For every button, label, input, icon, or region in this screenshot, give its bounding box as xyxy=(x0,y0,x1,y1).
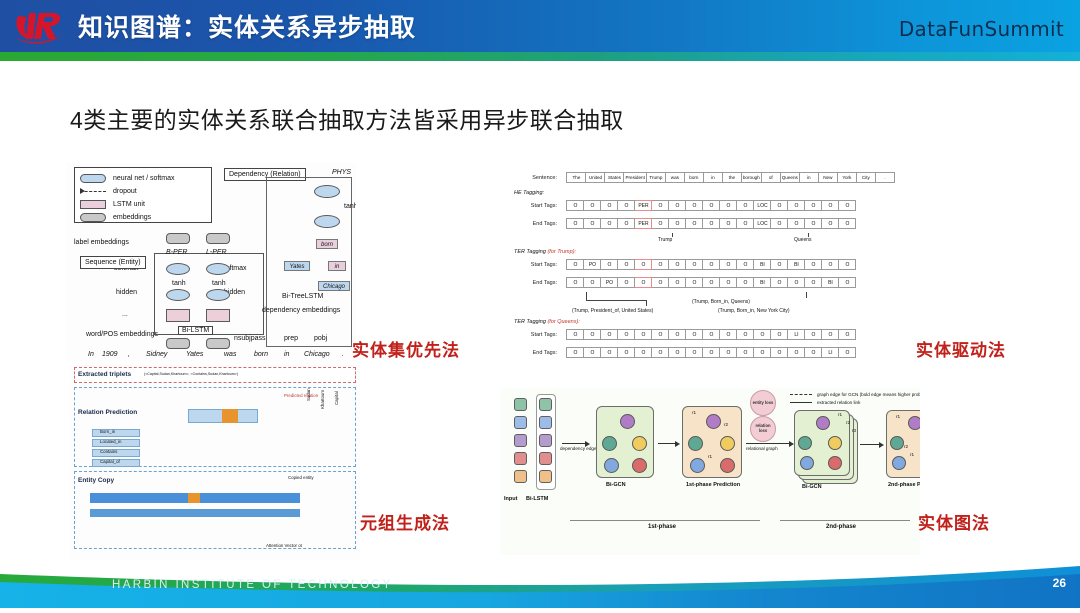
tag-cell: O xyxy=(635,278,652,288)
copied-entity-label: Copied entity xyxy=(288,475,314,480)
tag-cell-per: PER xyxy=(635,201,652,211)
tag-cell: O xyxy=(669,219,686,229)
triplet-text: (<Capital,Sudan,Khartoum>, <Contains,Sud… xyxy=(144,372,238,376)
tag-cell: O xyxy=(686,260,703,270)
solid-line-icon xyxy=(790,402,812,403)
entity-word-label: Khartoum xyxy=(320,390,325,409)
graph-node xyxy=(620,414,635,429)
tag-cell: O xyxy=(720,278,737,288)
tag-cell: BI xyxy=(788,260,805,270)
tag-cell-loc: LOC xyxy=(754,201,771,211)
bitreelstm-label: Bi-TreeLSTM xyxy=(282,293,323,300)
row-label-end-tags: End Tags: xyxy=(506,221,562,227)
legend-item-dropout: dropout xyxy=(80,185,206,197)
tag-cell: O xyxy=(737,348,754,358)
tag-cell: O xyxy=(686,201,703,211)
neural-net-swatch-icon xyxy=(80,174,106,183)
row-label-ellipsis: ... xyxy=(122,311,128,318)
accent-bar xyxy=(0,52,1080,61)
method-label-entity-driven: 实体驱动法 xyxy=(916,336,1006,361)
tag-cell: O xyxy=(618,201,635,211)
row-label-start-tags: Start Tags: xyxy=(506,332,562,338)
tagging-tables: Sentence: The United States President Tr… xyxy=(506,167,916,361)
brand-logo: DataFunSummit xyxy=(899,17,1064,41)
tag-cell: O xyxy=(703,201,720,211)
tag-cell: O xyxy=(737,219,754,229)
tag-cell: O xyxy=(720,330,737,340)
he-start-row: Start Tags: O O O O PER O O O O O O LOC … xyxy=(506,197,916,215)
tag-cell: O xyxy=(601,260,618,270)
hidden-node xyxy=(166,289,190,301)
tag-cell: O xyxy=(805,219,822,229)
word-embedding-node xyxy=(206,338,230,349)
sentence-cell: the xyxy=(722,173,741,183)
tanh-label: tanh xyxy=(344,203,356,210)
tag-cell: O xyxy=(788,278,805,288)
bigcn-label-2: Bi-GCN xyxy=(802,484,822,490)
bilstm-node xyxy=(539,452,552,465)
tag-cell: O xyxy=(601,348,618,358)
sentence-token: In xyxy=(88,351,94,358)
lstm-unit-node xyxy=(166,309,190,322)
tag-cell: O xyxy=(839,330,856,340)
ter-annotation-president-of: (Trump, President_of, United States) xyxy=(572,308,653,314)
relation-option-label: Located_in xyxy=(100,439,121,444)
bilstm-node xyxy=(539,398,552,411)
ter-title: TER Tagging xyxy=(514,249,546,255)
lstm-unit-node xyxy=(206,309,230,322)
he-end-table: O O O O PER O O O O O O LOC O O O O O xyxy=(566,218,856,229)
tag-cell: O xyxy=(567,219,584,229)
tag-cell: O xyxy=(822,219,839,229)
tag-cell: LI xyxy=(822,348,839,358)
graph-node xyxy=(688,436,703,451)
tree-node-born: born xyxy=(316,239,338,249)
tag-cell: O xyxy=(686,219,703,229)
tag-cell: O xyxy=(839,348,856,358)
figure-entity-set-first: neural net / softmax dropout LSTM unit e… xyxy=(66,163,356,361)
ter-queens-end-row: End Tags: O O O O O O O O O O O O O O O … xyxy=(506,344,916,361)
tag-cell: O xyxy=(669,330,686,340)
input-token-node xyxy=(514,434,527,447)
entity-word-label: Sudan xyxy=(306,388,311,401)
legend-item-neural-net: neural net / softmax xyxy=(80,172,206,184)
tag-cell: O xyxy=(584,278,601,288)
embeddings-swatch-icon xyxy=(80,213,106,222)
tag-cell: BI xyxy=(754,260,771,270)
input-token-node xyxy=(514,398,527,411)
graph-node xyxy=(798,436,812,450)
tag-cell: O xyxy=(567,260,584,270)
sentence-cell: born xyxy=(684,173,703,183)
entity-copy-selected xyxy=(188,493,200,503)
softmax-node xyxy=(206,263,230,275)
input-token-node xyxy=(514,416,527,429)
tag-cell: O xyxy=(822,260,839,270)
he-annotation-trump: Trump xyxy=(658,237,672,243)
tag-cell: O xyxy=(839,201,856,211)
sentence-token: 1909 xyxy=(102,351,118,358)
tag-cell: O xyxy=(771,330,788,340)
input-label: Input xyxy=(504,496,517,502)
ter-annotation-born-in-queens: (Trump, Born_in, Queens) xyxy=(692,299,750,305)
tag-cell: O xyxy=(618,278,635,288)
row-label-label-embeddings: label embeddings xyxy=(74,239,129,246)
sentence-cell: States xyxy=(605,173,624,183)
ter-title-note: (for Queens): xyxy=(547,319,579,325)
method-label-entity-graph: 实体图法 xyxy=(918,509,990,534)
ter-trump-end-table: O O PO O O O O O O O O BI O O O BI O xyxy=(566,277,856,288)
sentence-cell: Trump xyxy=(646,173,665,183)
tag-cell: O xyxy=(839,260,856,270)
arrow-to-phase1 xyxy=(658,443,676,444)
tag-cell: O xyxy=(737,278,754,288)
tag-cell: O xyxy=(652,348,669,358)
bilstm-node xyxy=(539,416,552,429)
dep-arc-nsubjpass: nsubjpass xyxy=(234,335,266,342)
sentence-cell: in xyxy=(703,173,722,183)
graph-node xyxy=(828,456,842,470)
page-number: 26 xyxy=(1053,576,1066,590)
graph-node xyxy=(706,414,721,429)
phase2-prediction-label: 2nd-phase Prediction xyxy=(888,482,920,489)
row-label-start-tags: Start Tags: xyxy=(506,203,562,209)
phase1-bar-label: 1st-phase xyxy=(648,524,676,530)
tag-cell: O xyxy=(652,260,669,270)
relation-option-label: Capital_of xyxy=(100,459,120,464)
sentence-cell: United xyxy=(586,173,605,183)
tag-cell: O xyxy=(771,348,788,358)
word-embedding-node xyxy=(166,338,190,349)
tag-cell: O xyxy=(652,201,669,211)
dependency-embeddings-label: dependency embeddings xyxy=(262,307,342,315)
input-token-node xyxy=(514,470,527,483)
bilstm-label: Bi-LSTM xyxy=(526,496,548,502)
input-token-node xyxy=(514,452,527,465)
softmax-node xyxy=(166,263,190,275)
relation-loss-node: relation loss xyxy=(750,416,776,442)
section-relation-prediction: Relation Prediction xyxy=(78,409,137,416)
tag-cell: PO xyxy=(601,278,618,288)
sentence-cell: Queens xyxy=(780,173,799,183)
sentence-cell: was xyxy=(665,173,684,183)
tag-cell: O xyxy=(652,219,669,229)
tag-cell: O xyxy=(737,330,754,340)
row-label-start-tags: Start Tags: xyxy=(506,262,562,268)
tag-cell: O xyxy=(788,219,805,229)
he-end-row: End Tags: O O O O PER O O O O O O LOC O … xyxy=(506,215,916,233)
tag-cell: O xyxy=(839,278,856,288)
label-embedding-node xyxy=(206,233,230,244)
section-extracted-triplets: Extracted triplets xyxy=(78,371,131,378)
row-label-hidden: hidden xyxy=(116,289,137,296)
tag-cell: O xyxy=(601,201,618,211)
tag-cell: O xyxy=(737,201,754,211)
ter-trump-end-row: End Tags: O O PO O O O O O O O O BI O O … xyxy=(506,274,916,292)
hit-logo xyxy=(12,6,70,46)
relation-tag: r1 xyxy=(838,412,842,417)
sentence-token: , xyxy=(128,351,130,358)
bilstm-label: Bi-LSTM xyxy=(178,326,213,335)
entity-word-label: Capital xyxy=(334,391,339,405)
entity-tag-l-per: L-PER xyxy=(206,249,227,256)
ter-trump-start-row: Start Tags: O PO O O O O O O O O O BI O … xyxy=(506,256,916,274)
graph-node xyxy=(632,436,647,451)
sentence-token: Sidney xyxy=(146,351,167,358)
arrow-to-phase2 xyxy=(860,444,880,445)
tag-cell: O xyxy=(618,219,635,229)
tag-cell: O xyxy=(635,330,652,340)
tag-cell: LI xyxy=(788,330,805,340)
legend-relation-link: extracted relation link xyxy=(790,400,920,405)
relation-tag: r2 xyxy=(846,420,850,425)
graph-node xyxy=(602,436,617,451)
row-label-word-pos-embeddings: word/POS embeddings xyxy=(86,331,130,339)
sentence-cell: City xyxy=(856,173,875,183)
slide-header: 知识图谱：实体关系异步抽取 DataFunSummit xyxy=(0,0,1080,52)
row-label-end-tags: End Tags: xyxy=(506,350,562,356)
legend-graph-edge: graph edge for GCN (bold edge means high… xyxy=(790,392,920,397)
dropout-arrow-icon xyxy=(80,187,106,196)
tag-cell: O xyxy=(720,260,737,270)
sentence-cell: of xyxy=(761,173,780,183)
ter-queens-start-table: O O O O O O O O O O O O O LI O O O xyxy=(566,329,856,340)
method-label-entity-set-first: 实体集优先法 xyxy=(352,336,460,361)
section-title-ter-queens: TER Tagging (for Queens): xyxy=(514,319,916,325)
tag-cell: O xyxy=(737,260,754,270)
tag-cell: O xyxy=(703,330,720,340)
relation-tag: r1 xyxy=(708,454,712,459)
sentence-cell: York xyxy=(837,173,856,183)
tag-cell: BI xyxy=(754,278,771,288)
tag-cell: O xyxy=(584,330,601,340)
slide-footer: HARBIN INSTITUTE OF TECHNOLOGY 26 xyxy=(0,560,1080,608)
predicted-relation-label: Predicted relation xyxy=(284,393,318,398)
sentence-token: in xyxy=(284,351,289,358)
tag-cell: O xyxy=(635,348,652,358)
phase1-prediction-label: 1st-phase Prediction xyxy=(686,482,740,489)
graph-node xyxy=(604,458,619,473)
tag-cell: O xyxy=(720,201,737,211)
tag-cell: O xyxy=(720,348,737,358)
figure-entity-driven: Sentence: The United States President Tr… xyxy=(500,163,920,361)
slide-subtitle: 4类主要的实体关系联合抽取方法皆采用异步联合抽取 xyxy=(70,101,624,135)
tag-cell: O xyxy=(771,278,788,288)
he-annotation-queens: Queens xyxy=(794,237,812,243)
sentence-token-table: The United States President Trump was bo… xyxy=(566,172,894,183)
graph-node xyxy=(892,456,906,470)
relation-softmax-node xyxy=(314,185,340,198)
tag-cell: O xyxy=(703,260,720,270)
phase1-bracket xyxy=(570,520,760,521)
tag-cell: O xyxy=(805,348,822,358)
entity-tag-b-per: B-PER xyxy=(166,249,187,256)
ter-annotation-born-in-nyc: (Trump, Born_in, New York City) xyxy=(718,308,790,314)
tag-cell: O xyxy=(584,201,601,211)
tag-cell: O xyxy=(669,260,686,270)
he-start-table: O O O O PER O O O O O O LOC O O O O O xyxy=(566,200,856,211)
tag-cell: O xyxy=(618,260,635,270)
sentence-cell: . xyxy=(875,173,894,183)
tag-cell: O xyxy=(771,260,788,270)
sentence-token: Yates xyxy=(186,351,203,358)
relation-tag: r3 xyxy=(852,428,856,433)
relation-tag: r2 xyxy=(724,422,728,427)
graph-node xyxy=(720,458,735,473)
tag-cell-loc: LOC xyxy=(754,219,771,229)
tag-cell: O xyxy=(805,330,822,340)
relation-tag: r2 xyxy=(904,444,908,449)
phase2-bar-label: 2nd-phase xyxy=(826,524,856,530)
sentence-cell: in xyxy=(799,173,818,183)
phase2-bracket xyxy=(780,520,910,521)
tanh-label: tanh xyxy=(172,280,186,287)
tag-cell: O xyxy=(567,278,584,288)
tag-cell: O xyxy=(584,348,601,358)
tag-cell: O xyxy=(686,348,703,358)
entity-attention-bar xyxy=(90,509,300,517)
tag-cell: O xyxy=(584,219,601,229)
graph-node xyxy=(908,416,920,430)
tag-cell: O xyxy=(788,348,805,358)
graph-node xyxy=(690,458,705,473)
figure-entity-graph: Input Bi-LSTM dependency edge Bi-GCN r1 … xyxy=(500,388,920,555)
tag-cell-per: PER xyxy=(635,219,652,229)
tag-cell: O xyxy=(652,330,669,340)
tag-cell: O xyxy=(805,201,822,211)
sentence-token: born xyxy=(254,351,268,358)
relational-graph-label: relational graph xyxy=(746,446,778,451)
tag-cell: O xyxy=(822,201,839,211)
tag-cell: O xyxy=(805,278,822,288)
label-embedding-node xyxy=(166,233,190,244)
legend-item-embeddings: embeddings xyxy=(80,211,206,223)
bigcn-label-1: Bi-GCN xyxy=(606,482,626,488)
tree-node-in: in xyxy=(328,261,346,271)
graph-node xyxy=(800,456,814,470)
tag-cell: O xyxy=(567,330,584,340)
relation-tag: r1 xyxy=(896,414,900,419)
relation-hidden-node xyxy=(314,215,340,228)
tree-node-yates: Yates xyxy=(284,261,310,271)
sequence-panel-title: Sequence (Entity) xyxy=(80,256,146,269)
tag-cell: O xyxy=(635,260,652,270)
legend-item-lstm: LSTM unit xyxy=(80,198,206,210)
ter-title-note: (for Trump): xyxy=(547,249,576,255)
graph-node xyxy=(890,436,904,450)
tag-cell: O xyxy=(822,330,839,340)
dep-arc-pobj: pobj xyxy=(314,335,327,342)
relation-selected-cell xyxy=(222,409,238,423)
graph-node xyxy=(632,458,647,473)
tag-cell: O xyxy=(839,219,856,229)
relation-output-label: PHYS xyxy=(332,169,351,176)
entity-loss-node: entity loss xyxy=(750,390,776,416)
hidden-node xyxy=(206,289,230,301)
sentence-row: Sentence: The United States President Tr… xyxy=(506,169,916,187)
tag-cell: O xyxy=(788,201,805,211)
sentence-cell: The xyxy=(567,173,586,183)
tag-cell: O xyxy=(567,201,584,211)
sentence-cell: President xyxy=(624,173,646,183)
graph-node xyxy=(720,436,735,451)
tag-cell: O xyxy=(618,330,635,340)
tree-node-chicago: Chicago xyxy=(318,281,350,291)
tag-cell: O xyxy=(618,348,635,358)
figure-legend: neural net / softmax dropout LSTM unit e… xyxy=(74,167,212,223)
sentence-token: . xyxy=(342,351,344,358)
row-label-end-tags: End Tags: xyxy=(506,280,562,286)
tag-cell: O xyxy=(669,348,686,358)
tag-cell: O xyxy=(771,201,788,211)
section-title-ter-trump: TER Tagging (for Trump): xyxy=(514,249,916,255)
page-title: 知识图谱：实体关系异步抽取 xyxy=(78,8,416,44)
dependency-edge-label: dependency edge xyxy=(560,446,594,451)
tag-cell: O xyxy=(754,330,771,340)
ter-queens-start-row: Start Tags: O O O O O O O O O O O O O LI… xyxy=(506,326,916,344)
ter-trump-start-table: O PO O O O O O O O O O BI O BI O O O xyxy=(566,259,856,270)
tag-cell: O xyxy=(805,260,822,270)
bilstm-node xyxy=(539,470,552,483)
tag-cell: O xyxy=(652,278,669,288)
tag-cell: O xyxy=(601,330,618,340)
tag-cell: BI xyxy=(822,278,839,288)
sentence-token: was xyxy=(224,351,236,358)
sentence-cell: borough xyxy=(741,173,761,183)
attention-vector-label: Attention Vector ot xyxy=(266,543,302,548)
lstm-swatch-icon xyxy=(80,200,106,209)
tag-cell: O xyxy=(703,348,720,358)
dependency-edge-arrow xyxy=(562,443,586,444)
dashed-line-icon xyxy=(790,394,812,395)
tag-cell: O xyxy=(771,219,788,229)
tag-cell: O xyxy=(669,278,686,288)
dep-arc-prep: prep xyxy=(284,335,298,342)
ter-title: TER Tagging xyxy=(514,319,546,325)
arrow-relational-graph xyxy=(746,443,790,444)
relation-option-label: Born_in xyxy=(100,429,115,434)
figure-tuple-generation: Extracted triplets (<Capital,Sudan,Khart… xyxy=(70,365,360,560)
tanh-label: tanh xyxy=(212,280,226,287)
tag-cell: O xyxy=(669,201,686,211)
sentence-token: Chicago xyxy=(304,351,330,358)
tag-cell: PO xyxy=(584,260,601,270)
relation-tag: r1 xyxy=(692,410,696,415)
relation-option-label: Contains xyxy=(100,449,117,454)
tag-cell: O xyxy=(754,348,771,358)
tag-cell: O xyxy=(686,278,703,288)
method-label-tuple-generation: 元组生成法 xyxy=(360,509,450,534)
tag-cell: O xyxy=(720,219,737,229)
relation-tag: r1 xyxy=(910,452,914,457)
bilstm-node xyxy=(539,434,552,447)
section-entity-copy: Entity Copy xyxy=(78,477,114,484)
tag-cell: O xyxy=(703,219,720,229)
sentence-row-label: Sentence: xyxy=(506,175,562,181)
tag-cell: O xyxy=(601,219,618,229)
tag-cell: O xyxy=(703,278,720,288)
sentence-cell: New xyxy=(818,173,837,183)
graph-node xyxy=(828,436,842,450)
graph-node xyxy=(816,416,830,430)
ter-queens-end-table: O O O O O O O O O O O O O O O LI O xyxy=(566,347,856,358)
tag-cell: O xyxy=(567,348,584,358)
tag-cell: O xyxy=(686,330,703,340)
footer-institution: HARBIN INSTITUTE OF TECHNOLOGY xyxy=(112,579,393,591)
br-legend: graph edge for GCN (bold edge means high… xyxy=(790,392,920,405)
section-title-he-tagging: HE Tagging: xyxy=(514,190,916,196)
